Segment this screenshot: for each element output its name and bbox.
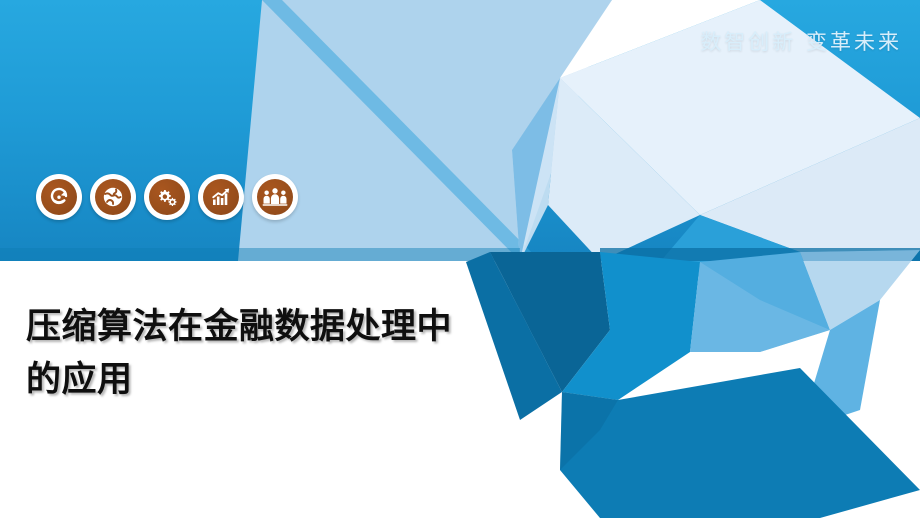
globe-icon — [95, 179, 131, 215]
slide-tagline: 数智创新 变革未来 — [700, 26, 902, 56]
bar-chart-growth-icon — [203, 179, 239, 215]
refresh-cycle-icon — [41, 179, 77, 215]
page-title-line-2: 的应用 — [26, 353, 586, 406]
people-group-icon — [257, 179, 293, 215]
icon-badge-refresh[interactable] — [36, 174, 82, 220]
page-title-line-1: 压缩算法在金融数据处理中 — [26, 300, 586, 353]
gears-icon — [149, 179, 185, 215]
page-title: 压缩算法在金融数据处理中 的应用 — [26, 300, 586, 406]
icon-badge-chart[interactable] — [198, 174, 244, 220]
title-slide: 数智创新 变革未来 — [0, 0, 920, 518]
low-poly-artwork — [0, 0, 920, 518]
icon-badge-row — [36, 174, 298, 220]
icon-badge-globe[interactable] — [90, 174, 136, 220]
icon-badge-people[interactable] — [252, 174, 298, 220]
icon-badge-gears[interactable] — [144, 174, 190, 220]
poly-dark-strip-left — [0, 248, 520, 261]
